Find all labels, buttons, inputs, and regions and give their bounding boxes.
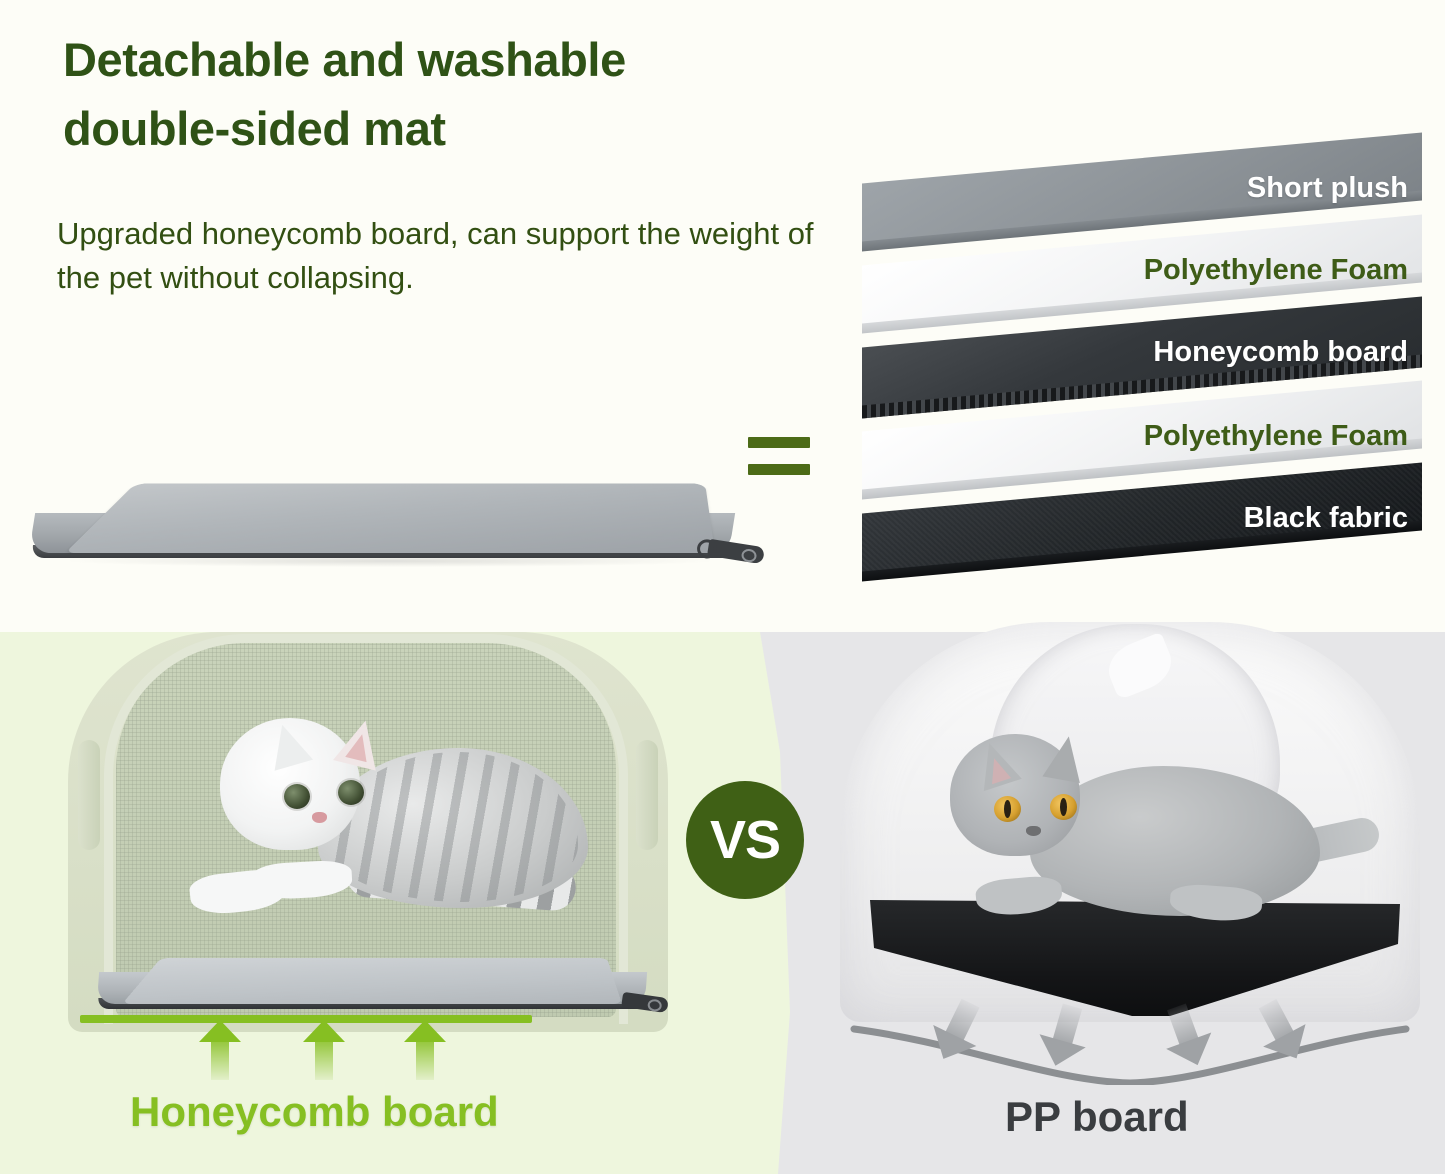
cat-eye-right xyxy=(1050,794,1077,820)
cat-nose xyxy=(312,812,327,823)
up-arrow-icon xyxy=(303,1020,345,1078)
headline-line-1: Detachable and washable xyxy=(57,36,632,85)
right-caption-pp-board: PP board xyxy=(1005,1093,1189,1141)
mat-top-surface xyxy=(65,483,715,553)
up-arrow-icon xyxy=(199,1020,241,1078)
headline-line-2: double-sided mat xyxy=(57,105,452,154)
layer-label: Honeycomb board xyxy=(1153,336,1408,369)
layer-label: Short plush xyxy=(1247,172,1408,205)
vs-badge: VS xyxy=(686,781,804,899)
cat-eye-right xyxy=(338,780,364,805)
cat-eye-left xyxy=(994,796,1021,822)
vs-label: VS xyxy=(710,809,780,871)
gray-cat xyxy=(920,702,1350,942)
infographic-page: Detachable and washable double-sided mat… xyxy=(0,0,1445,1174)
cat-eye-left xyxy=(284,784,310,809)
headline-block: Detachable and washable double-sided mat xyxy=(57,36,847,174)
arrow-shaft xyxy=(315,1034,333,1080)
equals-bar-top xyxy=(748,437,810,448)
layer-label: Polyethylene Foam xyxy=(1144,254,1408,287)
top-section: Detachable and washable double-sided mat… xyxy=(0,0,1445,632)
cat-paw-back xyxy=(251,859,353,900)
cat-nose xyxy=(1026,826,1041,836)
flat-mat-surface xyxy=(122,958,622,1004)
carrier-handle-right xyxy=(636,740,658,850)
cat-ear-left xyxy=(970,737,1022,791)
cat-ear-right xyxy=(333,715,387,770)
subheadline: Upgraded honeycomb board, can support th… xyxy=(57,212,817,300)
equals-icon xyxy=(748,437,810,491)
cat-head xyxy=(950,734,1080,856)
arrow-shaft xyxy=(211,1034,229,1080)
gray-plush-mat-photo xyxy=(10,395,770,595)
equals-bar-bottom xyxy=(748,464,810,475)
carrier-handle-left xyxy=(78,740,100,850)
left-caption-honeycomb-board: Honeycomb board xyxy=(130,1088,499,1136)
arrow-shaft xyxy=(416,1034,434,1080)
layer-label: Polyethylene Foam xyxy=(1144,420,1408,453)
zipper-pull-icon xyxy=(707,539,765,565)
cat-ear-left xyxy=(263,719,313,770)
left-carrier-photo xyxy=(68,632,668,1062)
cat-head xyxy=(220,718,360,850)
cat-paw-front xyxy=(975,874,1064,917)
cat-ear-right xyxy=(1042,733,1087,783)
material-layer-stack: Short plush Polyethylene Foam Honeycomb … xyxy=(862,148,1437,578)
layer-label: Black fabric xyxy=(1244,502,1408,535)
silver-tabby-cat xyxy=(178,690,598,940)
up-arrow-icon xyxy=(404,1020,446,1078)
